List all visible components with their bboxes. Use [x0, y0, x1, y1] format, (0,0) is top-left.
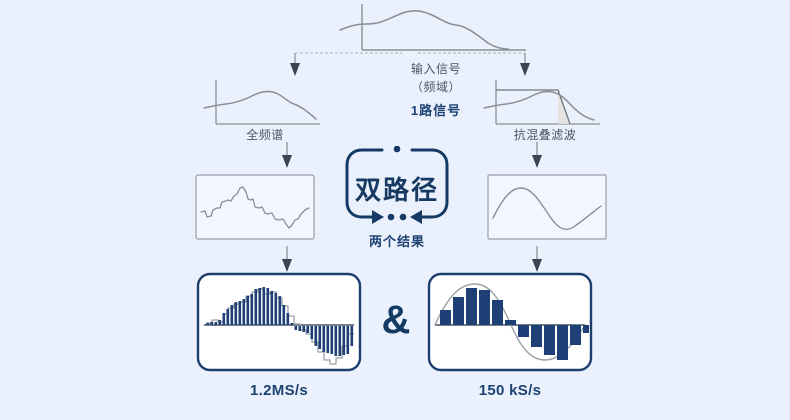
arrow-down-right-2 — [528, 246, 546, 274]
arrow-down-left-1 — [278, 142, 296, 170]
input-signal-label-line1: 输入信号 — [336, 60, 536, 77]
high-rate-panel — [196, 272, 362, 372]
two-results-label: 两个结果 — [337, 231, 457, 250]
anti-alias-filter-label: 抗混叠滤波 — [480, 126, 610, 143]
dual-path-label: 双路径 — [342, 170, 452, 207]
diagram-canvas: 输入信号 （频域） 1路信号 全频谱 抗混叠滤波 — [0, 0, 790, 420]
arrow-down-left-2 — [278, 246, 296, 274]
low-rate-label: 150 kS/s — [427, 382, 593, 399]
full-spectrum-label: 全频谱 — [200, 126, 330, 143]
full-spectrum-chart — [200, 78, 330, 130]
arrow-down-right-1 — [528, 142, 546, 170]
ampersand-symbol: & — [376, 300, 416, 340]
anti-alias-filter-chart — [480, 78, 610, 130]
low-rate-panel — [427, 272, 593, 372]
full-spectrum-timeseries-box — [195, 174, 315, 240]
high-rate-label: 1.2MS/s — [196, 382, 362, 399]
filtered-sine-box — [487, 174, 607, 240]
